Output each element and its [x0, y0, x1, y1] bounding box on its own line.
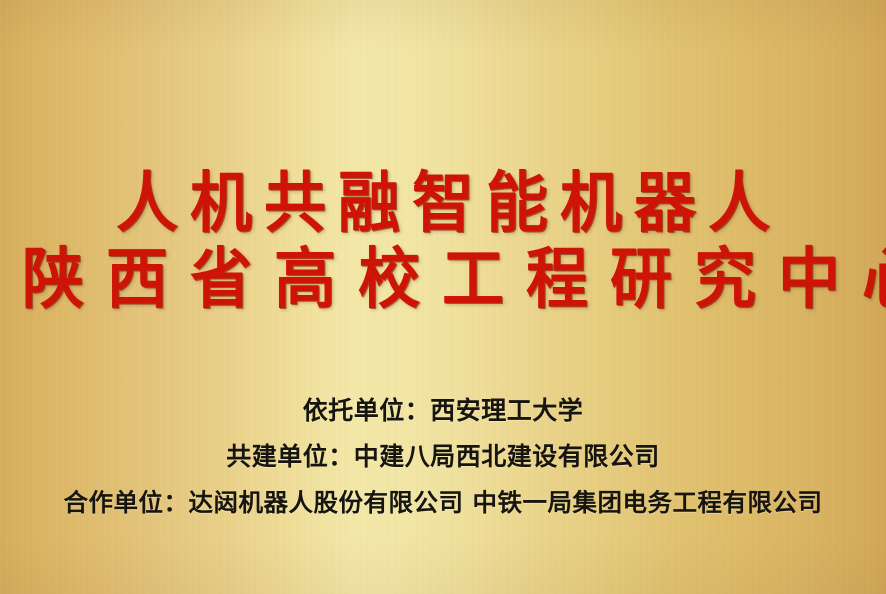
plaque-content: 人机共融智能机器人 陕西省高校工程研究中心 依托单位：西安理工大学 共建单位：中…	[0, 0, 886, 594]
title-line-2: 陕西省高校工程研究中心	[0, 246, 886, 312]
co-built-organization-line: 共建单位：中建八局西北建设有限公司	[0, 434, 886, 480]
plaque-subtitle: 依托单位：西安理工大学 共建单位：中建八局西北建设有限公司 合作单位：达闼机器人…	[0, 388, 886, 526]
plaque-title: 人机共融智能机器人 陕西省高校工程研究中心	[0, 172, 886, 310]
plaque-board: 人机共融智能机器人 陕西省高校工程研究中心 依托单位：西安理工大学 共建单位：中…	[0, 0, 886, 594]
host-organization-line: 依托单位：西安理工大学	[0, 388, 886, 434]
title-line-1: 人机共融智能机器人	[0, 170, 886, 236]
partner-organizations-line: 合作单位：达闼机器人股份有限公司 中铁一局集团电务工程有限公司	[0, 480, 886, 526]
